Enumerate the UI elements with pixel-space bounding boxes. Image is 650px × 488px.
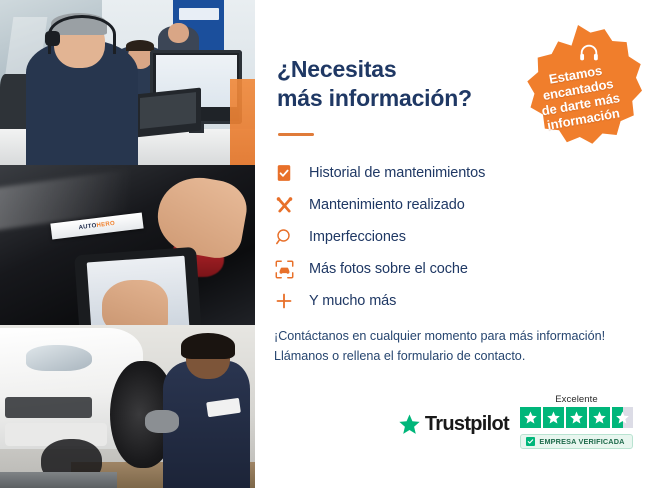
trustpilot-star-icon bbox=[398, 413, 421, 436]
star-filled-1 bbox=[520, 407, 541, 428]
feature-item-more-photos: Más fotos sobre el coche bbox=[273, 253, 573, 285]
trustpilot-widget[interactable]: Trustpilot Excelente bbox=[383, 390, 633, 452]
feature-list: Historial de mantenimientos Mantenimient… bbox=[273, 157, 573, 317]
star-filled-4 bbox=[589, 407, 610, 428]
car-scan-icon bbox=[273, 258, 295, 280]
feature-label: Más fotos sobre el coche bbox=[309, 261, 468, 277]
photo-call-center bbox=[0, 0, 255, 165]
checklist-document-icon bbox=[273, 162, 295, 184]
verified-check-icon bbox=[526, 437, 535, 446]
trustpilot-logo: Trustpilot bbox=[398, 413, 509, 436]
trustpilot-brand-text: Trustpilot bbox=[425, 413, 509, 436]
star-filled-3 bbox=[566, 407, 587, 428]
contact-line-2: Llámanos o rellena el formulario de cont… bbox=[274, 346, 649, 366]
photo1-orange-rack bbox=[230, 79, 256, 165]
trustpilot-rating-label: Excelente bbox=[555, 394, 598, 405]
feature-label: Y mucho más bbox=[309, 293, 396, 309]
photo1-headset-earcup bbox=[45, 31, 60, 46]
photo3-car-lift-platform bbox=[0, 472, 117, 488]
verified-badge-label: EMPRESA VERIFICADA bbox=[539, 437, 624, 446]
star-half-5 bbox=[612, 407, 633, 428]
magnifier-icon bbox=[273, 226, 295, 248]
headline-line-2: más información? bbox=[277, 84, 472, 113]
photo3-mechanic-glove bbox=[145, 410, 178, 433]
feature-item-much-more: Y mucho más bbox=[273, 285, 573, 317]
photo3-headlight bbox=[26, 345, 92, 371]
content-panel: ¿Necesitas más información? Estamos enca… bbox=[255, 0, 650, 488]
photo3-mechanic-hair bbox=[181, 333, 235, 359]
wrench-screwdriver-icon bbox=[273, 194, 295, 216]
star-filled-2 bbox=[543, 407, 564, 428]
support-badge: Estamos encantados de darte más informac… bbox=[514, 25, 642, 153]
contact-line-1: ¡Contáctanos en cualquier momento para m… bbox=[274, 326, 649, 346]
feature-label: Mantenimiento realizado bbox=[309, 197, 465, 213]
page-title: ¿Necesitas más información? bbox=[277, 55, 472, 113]
plus-icon bbox=[273, 290, 295, 312]
photo-collage: AUTOHERO bbox=[0, 0, 255, 488]
photo2-ruler-brand: AUTOHERO bbox=[78, 221, 115, 231]
photo1-agent-mid-hair bbox=[126, 40, 154, 52]
contact-text: ¡Contáctanos en cualquier momento para m… bbox=[274, 326, 649, 367]
trustpilot-rating-block: Excelente bbox=[520, 394, 633, 449]
feature-item-maintenance-done: Mantenimiento realizado bbox=[273, 189, 573, 221]
verified-business-badge: EMPRESA VERIFICADA bbox=[520, 434, 632, 449]
feature-label: Historial de mantenimientos bbox=[309, 165, 485, 181]
photo-car-inspection: AUTOHERO bbox=[0, 165, 255, 325]
feature-item-imperfections: Imperfecciones bbox=[273, 221, 573, 253]
badge-text: Estamos encantados de darte más informac… bbox=[505, 24, 650, 172]
photo3-grille bbox=[5, 397, 92, 418]
ruler-brand-part2: HERO bbox=[96, 221, 115, 229]
feature-item-maintenance-history: Historial de mantenimientos bbox=[273, 157, 573, 189]
title-underline-divider bbox=[278, 133, 314, 136]
photo1-laptop bbox=[135, 87, 201, 137]
photo-mechanic-wheel-check bbox=[0, 325, 255, 488]
promo-card: AUTOHERO ¿Necesitas más información? bbox=[0, 0, 650, 488]
photo2-hand-holding-tablet bbox=[102, 280, 168, 325]
trustpilot-star-rating bbox=[520, 407, 633, 428]
photo1-agent-back-head bbox=[168, 23, 188, 43]
headline-line-1: ¿Necesitas bbox=[277, 56, 396, 82]
feature-label: Imperfecciones bbox=[309, 229, 406, 245]
ruler-brand-part1: AUTO bbox=[78, 223, 97, 231]
